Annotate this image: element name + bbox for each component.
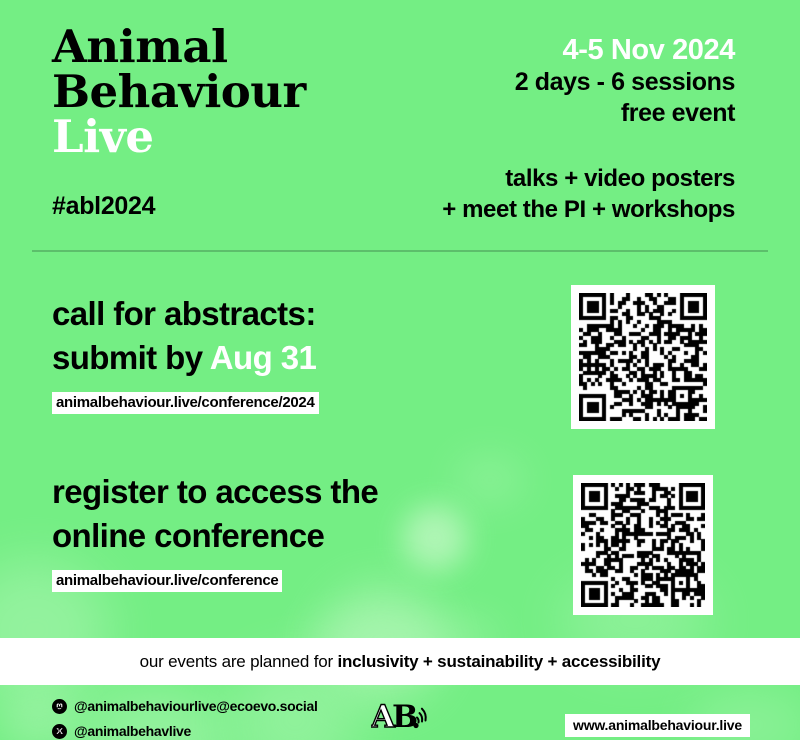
event-formats: talks + video posters + meet the PI + wo… — [442, 163, 735, 225]
values-bar: our events are planned for inclusivity +… — [0, 638, 800, 685]
brand-line-live: Live — [52, 114, 306, 159]
bokeh-circle — [402, 505, 468, 571]
header-divider — [32, 250, 768, 252]
event-date: 4-5 Nov 2024 — [515, 33, 735, 67]
svg-text:B: B — [392, 699, 418, 735]
event-formats-line2: + meet the PI + workshops — [442, 194, 735, 225]
register-heading-line2: online conference — [52, 514, 378, 558]
qr-code-register-image — [581, 483, 705, 607]
qr-code-abstracts[interactable] — [571, 285, 715, 429]
social-links: @animalbehaviourlive@ecoevo.social @anim… — [52, 695, 318, 740]
call-for-abstracts-heading: call for abstracts: submit by Aug 31 — [52, 292, 319, 380]
social-row-mastodon[interactable]: @animalbehaviourlive@ecoevo.social — [52, 695, 318, 717]
abstracts-url-badge[interactable]: animalbehaviour.live/conference/2024 — [52, 392, 319, 414]
website-badge[interactable]: www.animalbehaviour.live — [565, 714, 750, 737]
event-sessions: 2 days - 6 sessions — [515, 67, 735, 98]
abstracts-deadline-date: Aug 31 — [210, 339, 316, 376]
call-for-abstracts-block: call for abstracts: submit by Aug 31 ani… — [52, 292, 319, 414]
qr-code-register[interactable] — [573, 475, 713, 615]
social-handle-x: @animalbehavlive — [74, 723, 191, 739]
animal-behaviour-live-logo: A B — [371, 696, 443, 736]
x-twitter-icon — [52, 724, 67, 739]
register-heading: register to access the online conference — [52, 470, 378, 558]
poster: Animal Behaviour Live #abl2024 4-5 Nov 2… — [0, 0, 800, 740]
register-heading-line1: register to access the — [52, 470, 378, 514]
abstracts-heading-line2: submit by Aug 31 — [52, 336, 319, 380]
qr-code-abstracts-image — [579, 293, 707, 421]
event-price: free event — [515, 98, 735, 129]
brand-line-behaviour: Behaviour — [52, 69, 306, 114]
values-prefix: our events are planned for — [140, 652, 338, 671]
register-block: register to access the online conference… — [52, 470, 378, 592]
social-row-x[interactable]: @animalbehavlive — [52, 720, 318, 740]
event-hashtag: #abl2024 — [52, 192, 155, 221]
social-handle-mastodon: @animalbehaviourlive@ecoevo.social — [74, 698, 318, 714]
values-text: our events are planned for inclusivity +… — [140, 652, 661, 672]
register-url-badge[interactable]: animalbehaviour.live/conference — [52, 570, 282, 592]
bokeh-circle — [455, 455, 525, 505]
abstracts-heading-line1: call for abstracts: — [52, 292, 319, 336]
brand-line-animal: Animal — [52, 24, 306, 69]
brand-block: Animal Behaviour Live — [52, 24, 306, 159]
mastodon-icon — [52, 699, 67, 714]
poster-header: Animal Behaviour Live #abl2024 4-5 Nov 2… — [0, 0, 800, 250]
values-strong: inclusivity + sustainability + accessibi… — [337, 652, 660, 671]
abstracts-submit-by-label: submit by — [52, 339, 210, 376]
event-formats-line1: talks + video posters — [442, 163, 735, 194]
event-meta: 4-5 Nov 2024 2 days - 6 sessions free ev… — [515, 33, 735, 129]
brand-title: Animal Behaviour Live — [52, 24, 306, 159]
